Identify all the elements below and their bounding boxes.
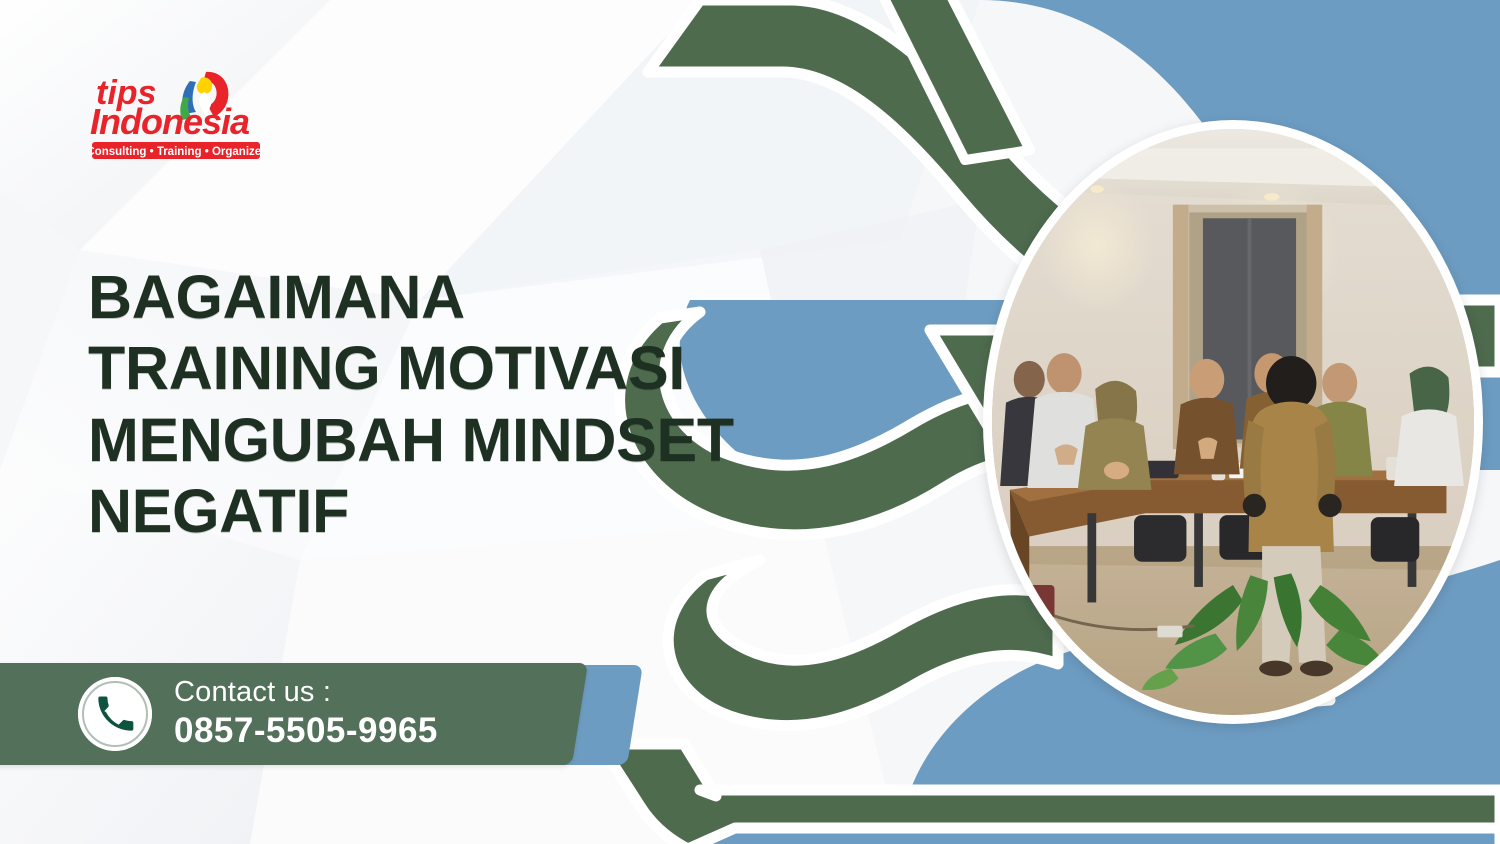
headline-line-1: BAGAIMANA — [88, 262, 888, 333]
logo-word-indonesia: Indonesia — [90, 101, 249, 142]
page-title: BAGAIMANA TRAINING MOTIVASI MENGUBAH MIN… — [88, 262, 888, 547]
contact-label: Contact us : — [174, 677, 438, 709]
logo-artwork: tips Indonesia Consulting • Training • O… — [88, 62, 268, 164]
phone-icon — [95, 694, 135, 734]
training-session-photo — [983, 120, 1483, 724]
promo-banner: tips Indonesia Consulting • Training • O… — [0, 0, 1500, 844]
tips-indonesia-logo[interactable]: tips Indonesia Consulting • Training • O… — [88, 62, 268, 164]
phone-badge — [78, 677, 152, 751]
photo-artwork — [992, 129, 1474, 715]
logo-tagline: Consulting • Training • Organizer — [88, 146, 266, 158]
headline-line-2: TRAINING MOTIVASI — [88, 333, 888, 404]
headline-line-4: NEGATIF — [88, 476, 888, 547]
contact-phone-number[interactable]: 0857-5505-9965 — [174, 711, 438, 751]
headline-line-3: MENGUBAH MINDSET — [88, 405, 888, 476]
contact-bar[interactable]: Contact us : 0857-5505-9965 — [0, 663, 640, 767]
